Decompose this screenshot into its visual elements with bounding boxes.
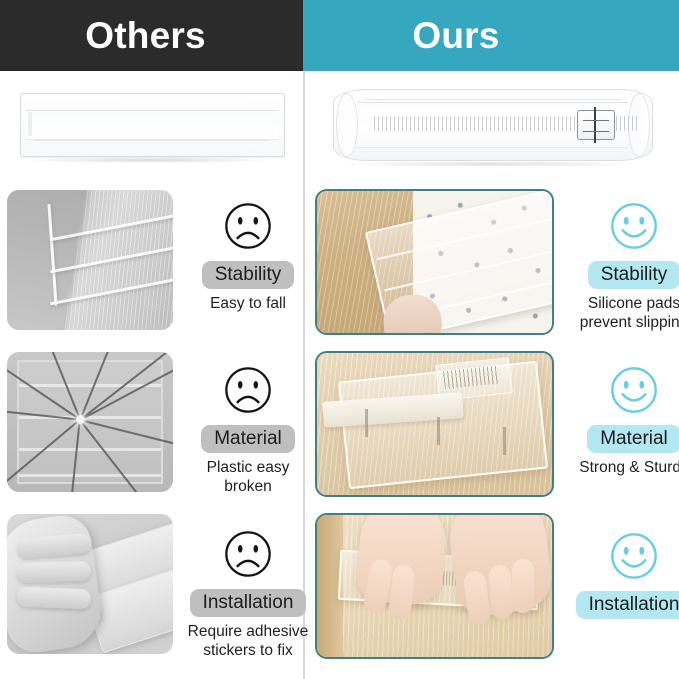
header-ours-title: Ours xyxy=(412,17,499,54)
ours-stability-badge: Stability xyxy=(588,261,679,289)
others-installation-photo xyxy=(7,514,173,654)
others-installation-caption: Require adhesive stickers to fix xyxy=(173,623,323,661)
ratchet-track xyxy=(374,116,584,131)
ours-product-expandable-divider xyxy=(333,89,653,161)
smiley-face-icon xyxy=(608,364,660,416)
lock-mechanism-icon xyxy=(577,110,615,140)
ours-material-photo xyxy=(315,351,554,497)
sad-face-icon xyxy=(222,364,274,416)
others-stability-labels: Stability Easy to fall xyxy=(173,184,323,314)
others-material-photo xyxy=(7,352,173,492)
others-material-badge: Material xyxy=(201,425,295,453)
header-others-title: Others xyxy=(85,17,205,54)
others-stability-caption: Easy to fall xyxy=(173,295,323,314)
header-ours: Ours xyxy=(303,0,679,71)
product-shadow xyxy=(341,161,641,167)
others-column: Stability Easy to fall xyxy=(0,71,303,679)
others-hero-photo xyxy=(0,71,303,184)
header-others: Others xyxy=(0,0,303,71)
others-installation-labels: Installation Require adhesive stickers t… xyxy=(173,508,323,661)
others-material-caption: Plastic easy broken xyxy=(173,459,323,497)
smiley-face-icon xyxy=(608,530,660,582)
ours-row-material: Material Strong & Sturdy xyxy=(305,346,679,508)
ours-row-stability: Stability Silicone pads prevent slipping xyxy=(305,184,679,346)
ours-column: Stability Silicone pads prevent slipping xyxy=(305,71,679,679)
sad-face-icon xyxy=(222,528,274,580)
ours-stability-photo xyxy=(315,189,554,335)
others-row-stability: Stability Easy to fall xyxy=(0,184,303,346)
others-material-labels: Material Plastic easy broken xyxy=(173,346,323,497)
others-stability-badge: Stability xyxy=(202,261,295,289)
others-product-tray xyxy=(20,93,285,157)
ours-installation-labels: Installation xyxy=(554,508,679,625)
tray-shadow xyxy=(24,157,274,163)
others-row-material: Material Plastic easy broken xyxy=(0,346,303,508)
ours-stability-labels: Stability Silicone pads prevent slipping xyxy=(554,184,679,333)
ours-row-installation: Installation xyxy=(305,508,679,670)
tray-rib xyxy=(35,140,270,141)
sad-face-icon xyxy=(222,200,274,252)
others-installation-badge: Installation xyxy=(190,589,307,617)
ours-installation-photo xyxy=(315,513,554,659)
header: Others Ours xyxy=(0,0,679,71)
ours-material-labels: Material Strong & Sturdy xyxy=(554,346,679,478)
others-row-installation: Installation Require adhesive stickers t… xyxy=(0,508,303,670)
ours-material-caption: Strong & Sturdy xyxy=(554,459,679,478)
comparison-infographic: Others Ours xyxy=(0,0,679,679)
ours-installation-badge: Installation xyxy=(576,591,679,619)
ours-hero-photo xyxy=(305,71,679,184)
smiley-face-icon xyxy=(608,200,660,252)
others-stability-photo xyxy=(7,190,173,330)
ours-stability-caption: Silicone pads prevent slipping xyxy=(554,295,679,333)
end-cap-left xyxy=(336,93,358,157)
ours-material-badge: Material xyxy=(587,425,679,453)
